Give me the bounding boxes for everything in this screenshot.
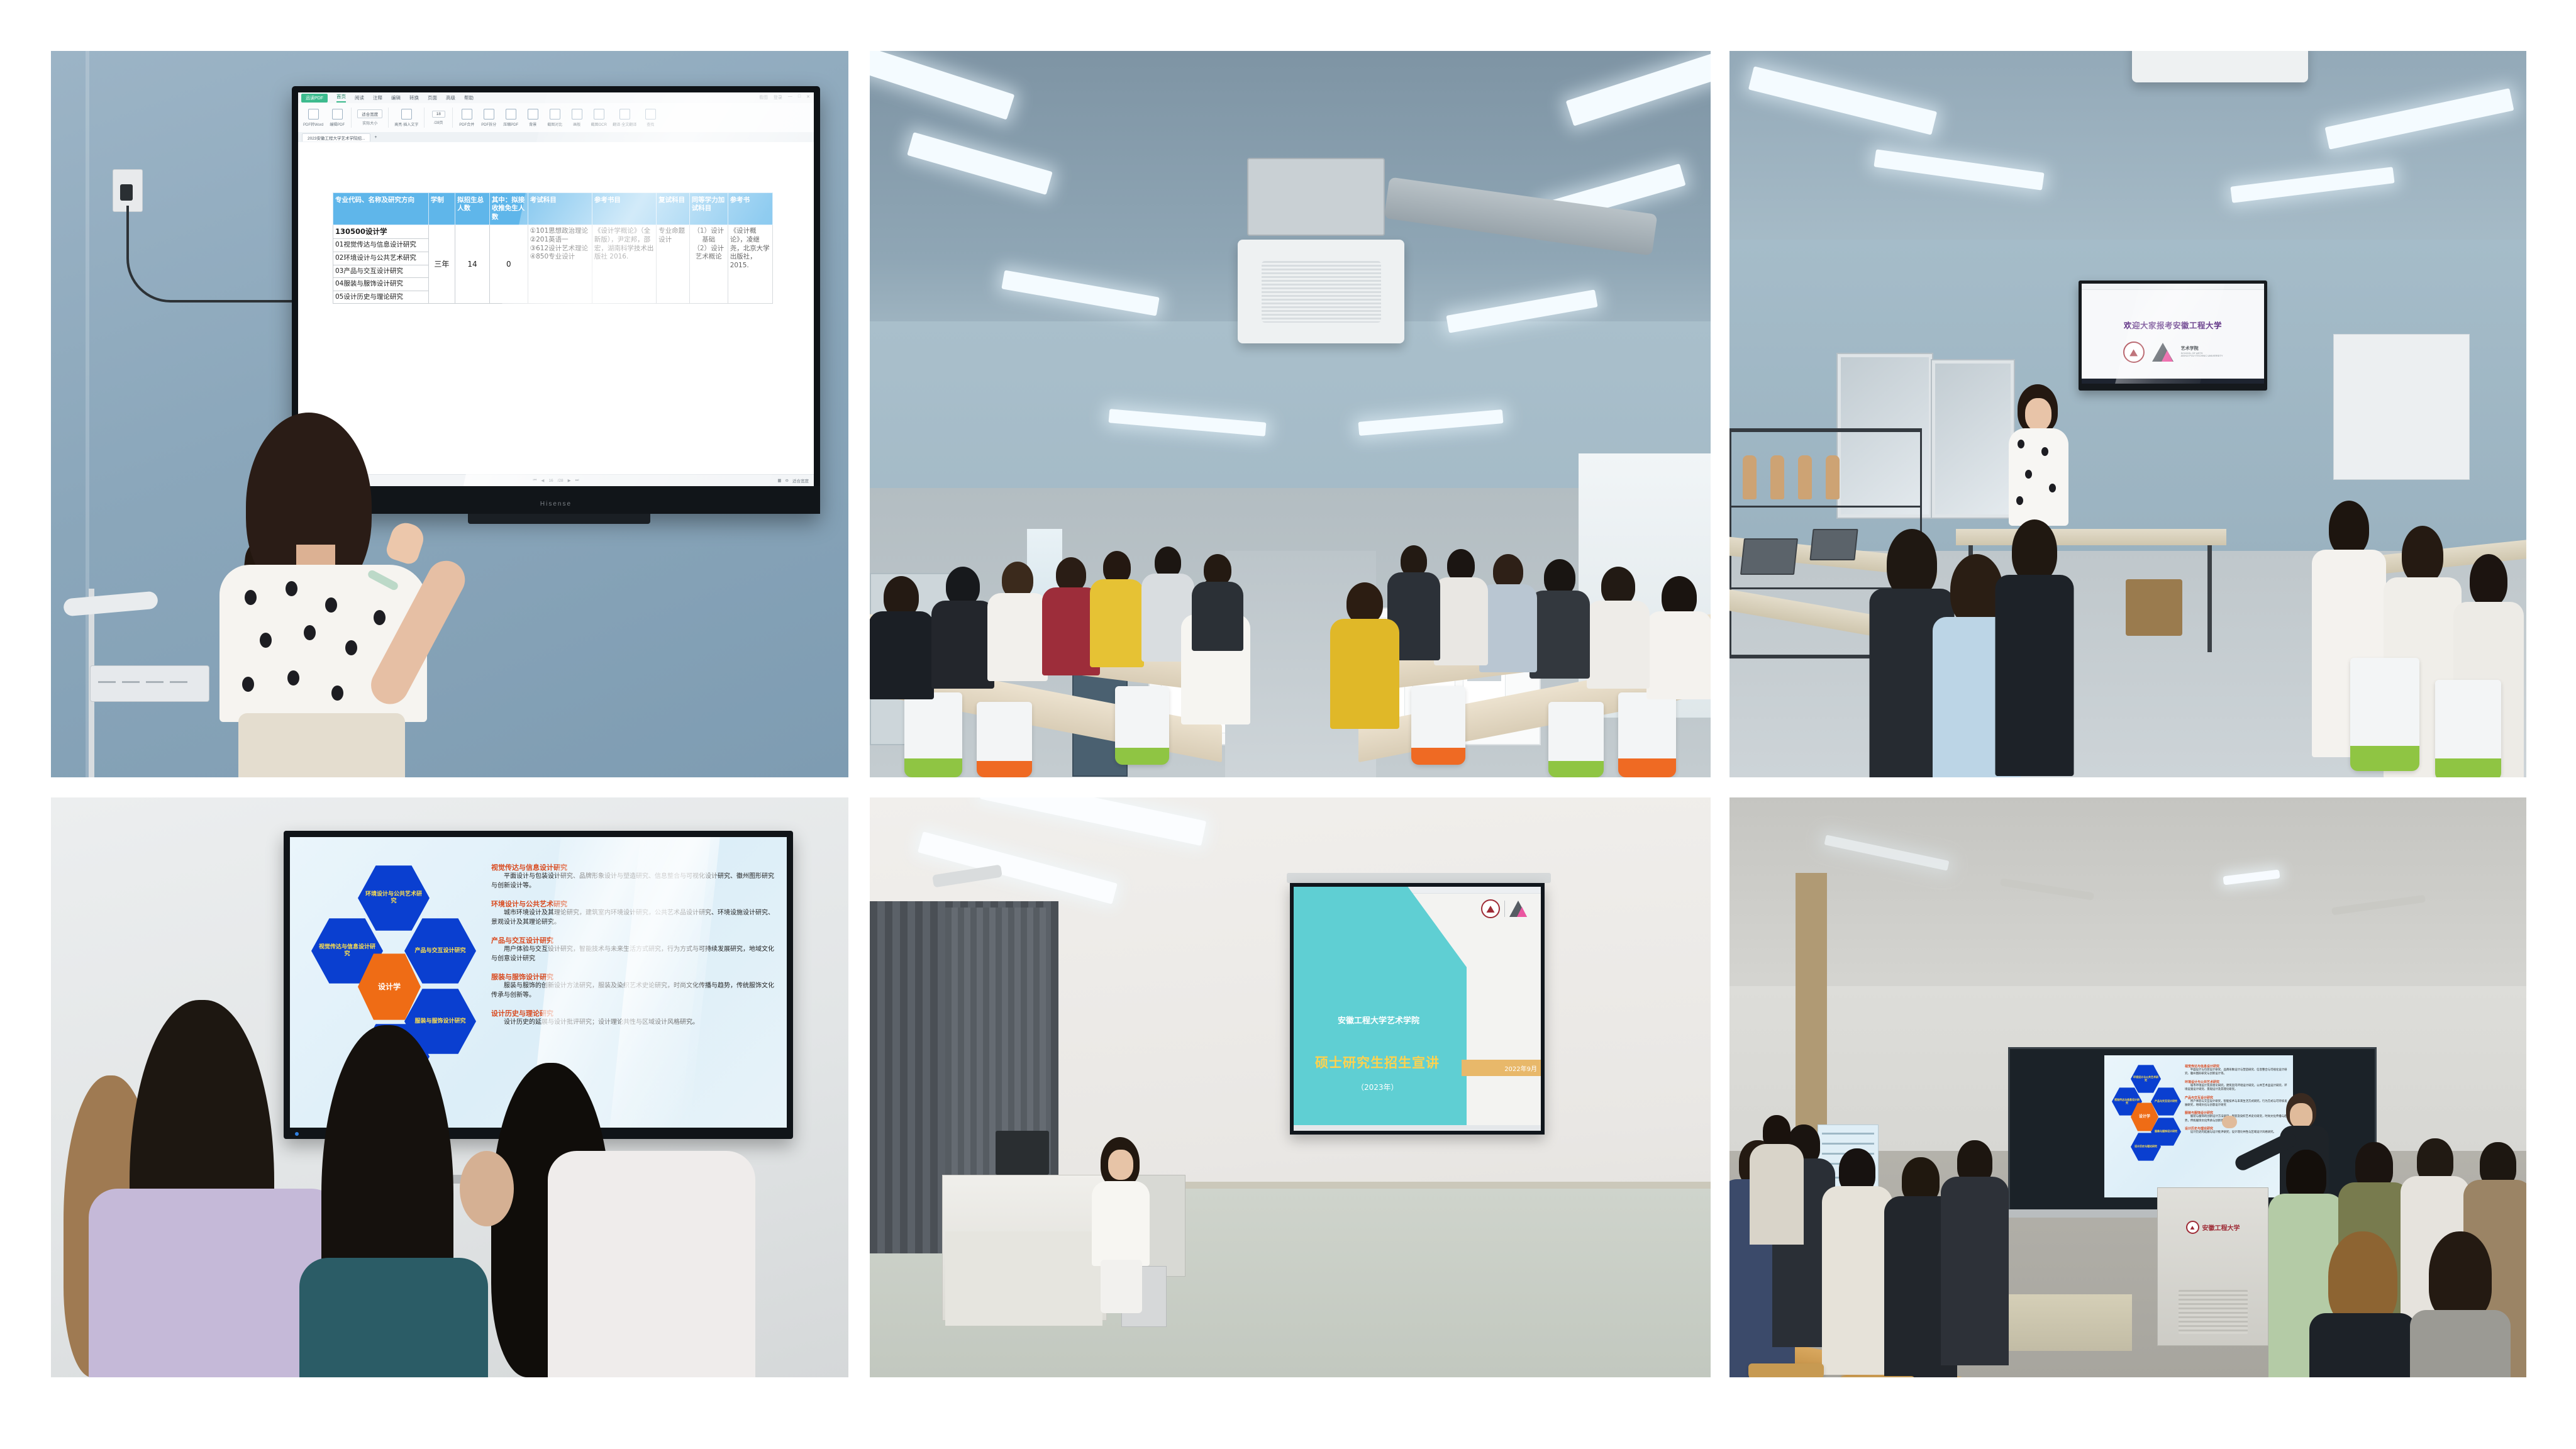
slide-year: （2023年）	[1357, 1082, 1399, 1092]
th-exempt: 其中：拟接收推免生人数	[489, 193, 528, 225]
chair	[904, 692, 962, 777]
chair	[977, 702, 1032, 777]
welcome-slide-title: 欢迎大家报考安徽工程大学	[2082, 319, 2264, 331]
podium-logo: 安徽工程大学	[2186, 1221, 2240, 1234]
laptop	[1809, 529, 1858, 560]
cell-direction: 01视觉传达与信息设计研究	[333, 239, 429, 252]
search-icon	[645, 109, 656, 119]
desktop-monitor	[996, 1131, 1049, 1175]
ribbon-divider	[424, 108, 425, 128]
section-body: 用户体验与交互设计研究，智能技术与未来生活方式研究，行为方式与可持续发展研究，地…	[491, 945, 777, 963]
section-heading: 视觉传达与信息设计研究	[491, 862, 777, 872]
ribbon-label: 背景	[529, 121, 536, 127]
th-duration: 学制	[428, 193, 455, 225]
student-head	[460, 1151, 514, 1226]
section-body: 平面设计与包装设计研究、品牌形象设计与塑造研究、信息整合与可视化设计研究、徽州图…	[2185, 1069, 2289, 1077]
ribbon-canvas[interactable]: 画板	[569, 109, 585, 127]
student-center-right	[1333, 582, 1396, 727]
white-blouse	[1092, 1181, 1150, 1266]
logo-divider	[1504, 901, 1505, 917]
ribbon-label: 压缩PDF	[503, 121, 518, 127]
section-body: 服装与服饰的创新设计方法研究，服装及染织艺术史论研究，时尚文化传播与趋势，传统服…	[491, 982, 777, 1000]
chair	[1411, 686, 1465, 765]
section-body: 城市环境设计及其理论研究，建筑室内环境设计研究，公共艺术品设计研究、环境设施设计…	[2185, 1084, 2289, 1092]
pdf-menu-advanced[interactable]: 高级	[446, 94, 455, 101]
section-heading: 环境设计与公共艺术研究	[491, 899, 777, 909]
prev-page-icon[interactable]: ◀	[541, 478, 544, 483]
chair	[1748, 1363, 1824, 1377]
compare-icon	[550, 109, 560, 119]
total-pages: /28	[558, 479, 563, 483]
art-school-logo-icon	[2152, 343, 2173, 362]
ribbon-label: 截图对比	[547, 121, 562, 127]
section-body: 城市环境设计及其理论研究，建筑室内环境设计研究，公共艺术品设计研究、环境设施设计…	[491, 909, 777, 927]
ribbon-edit-pdf[interactable]: 编辑PDF	[329, 109, 345, 127]
student	[1824, 1148, 1890, 1375]
status-zoom-label[interactable]: 适合宽度	[792, 477, 809, 484]
section-heading: 视觉传达与信息设计研究	[2185, 1064, 2289, 1069]
th-equivalent-ref: 参考书	[728, 193, 772, 225]
trousers	[1101, 1260, 1142, 1313]
table-header-row: 专业代码、名称及研究方向 学制 拟招生总人数 其中：拟接收推免生人数 考试科目 …	[333, 193, 773, 225]
maximize-icon[interactable]: □	[798, 94, 801, 101]
wooden-stool	[2126, 579, 2182, 636]
pdf-menu-home[interactable]: 首页	[336, 93, 346, 103]
student	[870, 576, 936, 696]
cassette-air-conditioner	[2132, 51, 2308, 82]
section-body: 平面设计与包装设计研究、品牌形象设计与塑造研究、信息整合与可视化设计研究、徽州图…	[491, 872, 777, 891]
ribbon-pdf-to-word[interactable]: PDF转Word	[303, 109, 323, 127]
teaching-platform	[1994, 1294, 2132, 1351]
slide-logos	[1481, 899, 1527, 918]
research-section: 环境设计与公共艺术研究 城市环境设计及其理论研究，建筑室内环境设计研究，公共艺术…	[491, 899, 777, 927]
pdf-menu-help[interactable]: 帮助	[464, 94, 474, 101]
ribbon-label: 高亮·插入文字	[394, 121, 418, 127]
ribbon-font-size[interactable]: 18/28页	[430, 111, 447, 125]
projected-image: 安徽工程大学艺术学院 硕士研究生招生宣讲 （2023年） 2022年9月	[1294, 887, 1541, 1131]
face	[1108, 1150, 1133, 1180]
face	[2025, 398, 2051, 431]
ribbon-label: PDF合并	[459, 121, 474, 127]
ocr-icon	[594, 109, 604, 119]
zoom-select[interactable]: 适合宽度	[357, 109, 382, 118]
document-tab[interactable]: 2023安徽工程大学艺术学院招...	[302, 133, 370, 142]
projector-screen-roller	[1287, 873, 1551, 883]
ribbon-pdf-compress[interactable]: 压缩PDF	[502, 109, 519, 127]
chair	[2350, 658, 2419, 771]
teacher-figure	[202, 387, 466, 777]
photo-collage: 迅读PDF 首页 阅读 注释 编辑 转换 页面 高级 帮助 看图 登录 —	[0, 0, 2576, 1449]
cell-direction: 04服装与服饰设计研究	[333, 278, 429, 291]
projector-screen[interactable]: 安徽工程大学艺术学院 硕士研究生招生宣讲 （2023年） 2022年9月	[1290, 883, 1545, 1135]
th-program: 专业代码、名称及研究方向	[333, 193, 429, 225]
research-section: 产品与交互设计研究 用户体验与交互设计研究，智能技术与未来生活方式研究，行为方式…	[491, 935, 777, 963]
photo-panel-1: 迅读PDF 首页 阅读 注释 编辑 转换 页面 高级 帮助 看图 登录 —	[51, 51, 848, 777]
close-icon[interactable]: ✕	[806, 94, 810, 101]
presenter-figure	[1087, 1137, 1156, 1313]
chair	[2435, 680, 2501, 777]
ribbon-label: 编辑PDF	[330, 121, 345, 127]
power-cable	[126, 206, 318, 303]
view-mode-icon[interactable]: ▦	[777, 478, 781, 483]
th-exam-subjects: 考试科目	[528, 193, 592, 225]
next-page-icon[interactable]: ▶	[568, 478, 571, 483]
merge-icon	[462, 109, 472, 119]
face	[2290, 1103, 2312, 1128]
student	[1585, 567, 1651, 686]
wall-control-panel	[90, 665, 209, 702]
art-school-logo-icon	[1509, 901, 1527, 917]
student	[1528, 559, 1591, 679]
ribbon-label: 截图OCR	[591, 121, 607, 127]
first-page-icon[interactable]: ⏮	[533, 478, 537, 483]
chair	[1115, 686, 1169, 765]
cell-exam-subjects: ①101思想政治理论 ②201英语一 ③612设计艺术理论 ④850专业设计	[528, 225, 592, 304]
research-section: 视觉传达与信息设计研究 平面设计与包装设计研究、品牌形象设计与塑造研究、信息整合…	[2185, 1064, 2289, 1077]
ribbon-label: 实际大小	[362, 120, 377, 126]
ribbon-find[interactable]: 查找	[642, 109, 658, 127]
pointing-hand	[384, 519, 428, 566]
photo-panel-2	[870, 51, 1711, 777]
slide-date: 2022年9月	[1504, 1063, 1537, 1073]
font-size-input[interactable]: 18	[432, 111, 445, 118]
new-tab-icon[interactable]: +	[374, 135, 377, 140]
split-icon	[484, 109, 494, 119]
ribbon-divider	[452, 108, 453, 128]
ribbon-pdf-merge[interactable]: PDF合并	[458, 109, 475, 127]
trousers	[238, 713, 405, 777]
power-indicator-icon	[295, 1132, 299, 1136]
teal-shape	[1294, 887, 1467, 1131]
th-retest: 复试科目	[657, 193, 690, 225]
title-slide: 安徽工程大学艺术学院 硕士研究生招生宣讲 （2023年） 2022年9月	[1294, 887, 1541, 1131]
ribbon-label: 画板	[573, 121, 580, 127]
current-page-number[interactable]: 16	[548, 479, 553, 483]
viewer-button[interactable]: 看图	[759, 94, 768, 101]
polka-dot-shirt	[2009, 428, 2068, 526]
app-toolbar	[2082, 284, 2264, 290]
college-name-block: 艺术学院 SCHOOL OF ARTS ANHUI POLYTECHNIC UN…	[2181, 347, 2223, 358]
last-page-icon[interactable]: ⏭	[575, 478, 579, 483]
minimize-icon[interactable]: —	[788, 94, 792, 101]
cell-duration: 三年	[428, 225, 455, 304]
compress-icon	[506, 109, 516, 119]
window-controls[interactable]: 看图 登录 — □ ✕	[759, 94, 810, 101]
cell-equivalent-ref: 《设计概论》，凌继尧，北京大学出版社，2015.	[728, 225, 772, 304]
research-section: 设计历史与理论研究 设计历史的延展与设计批评研究；设计理论共性与区域设计风格研究…	[491, 1008, 777, 1028]
research-section: 环境设计与公共艺术研究 城市环境设计及其理论研究，建筑室内环境设计研究，公共艺术…	[2185, 1080, 2289, 1092]
pdf-menu-read[interactable]: 阅读	[355, 94, 364, 101]
insert-text-icon	[401, 109, 412, 119]
ac-grille	[1262, 261, 1381, 323]
ribbon-background[interactable]: 背景	[525, 109, 541, 127]
work-table	[1956, 529, 2226, 545]
slide-date-bar: 2022年9月	[1462, 1060, 1541, 1076]
pdf-brand-label: 迅读PDF	[301, 94, 328, 103]
chair	[1840, 1376, 1915, 1377]
student-foreground	[2416, 1231, 2504, 1377]
pointing-hand	[2222, 1116, 2237, 1128]
student	[1645, 576, 1711, 696]
th-reference-books: 参考书目	[592, 193, 656, 225]
student-foreground	[2316, 1231, 2410, 1377]
translate-icon	[619, 109, 630, 119]
cell-direction: 02环境设计与公共艺术研究	[333, 252, 429, 265]
taskbar	[1294, 1125, 1541, 1131]
student-shoulders	[299, 1258, 488, 1377]
cell-program-code: 130500设计学	[333, 225, 429, 239]
student	[2000, 519, 2069, 771]
canvas-icon	[572, 109, 582, 119]
slide-college-name: 安徽工程大学艺术学院	[1338, 1014, 1419, 1026]
studio-ceiling	[1729, 51, 2526, 258]
student	[1943, 1140, 2006, 1367]
th-planned-total: 拟招生总人数	[455, 193, 490, 225]
cell-direction: 03产品与交互设计研究	[333, 265, 429, 278]
ribbon-label: PDF转Word	[303, 121, 323, 127]
pdf-menu-annotate[interactable]: 注释	[373, 94, 382, 101]
podium-vent	[2179, 1290, 2248, 1334]
research-section: 视觉传达与信息设计研究 平面设计与包装设计研究、品牌形象设计与塑造研究、信息整合…	[491, 862, 777, 891]
th-equivalent: 同等学力加试科目	[689, 193, 728, 225]
pdf-menubar: 迅读PDF 首页 阅读 注释 编辑 转换 页面 高级 帮助 看图 登录 —	[298, 92, 814, 104]
pdf-tabbar: 2023安徽工程大学艺术学院招... +	[298, 132, 814, 143]
cassette-air-conditioner	[1238, 240, 1404, 343]
display-screen: 欢迎大家报考安徽工程大学 艺术学院 SCHOOL OF ARTS ANHUI P…	[2082, 284, 2264, 384]
student-shoulders	[548, 1151, 755, 1377]
photo-panel-3: 欢迎大家报考安徽工程大学 艺术学院 SCHOOL OF ARTS ANHUI P…	[1729, 51, 2526, 777]
ceiling-equipment-box	[1247, 158, 1385, 236]
pdf-menu-edit[interactable]: 编辑	[391, 94, 401, 101]
background-icon	[528, 109, 538, 119]
cell-planned-total: 14	[455, 225, 490, 304]
ribbon-compare[interactable]: 截图对比	[547, 109, 563, 127]
ribbon-insert-text[interactable]: 高亮·插入文字	[394, 109, 418, 127]
zoom-out-icon[interactable]: ⊖	[786, 478, 789, 483]
student	[1191, 554, 1245, 648]
photo-panel-4: 环境设计与公共艺术研究 视觉传达与信息设计研究 产品与交互设计研究 设计学 服装…	[51, 797, 848, 1377]
admissions-table: 专业代码、名称及研究方向 学制 拟招生总人数 其中：拟接收推免生人数 考试科目 …	[333, 192, 773, 304]
table-row: 130500设计学 三年 14 0 ①101思想政治理论 ②201英语一 ③61…	[333, 225, 773, 239]
student	[1752, 1115, 1802, 1241]
pdf-menu-page[interactable]: 页面	[428, 94, 437, 101]
student	[986, 562, 1049, 681]
section-heading: 服装与服饰设计研究	[491, 972, 777, 982]
table-leg	[2207, 545, 2212, 652]
podium-university-name: 安徽工程大学	[2202, 1223, 2240, 1232]
welcome-slide-logos: 艺术学院 SCHOOL OF ARTS ANHUI POLYTECHNIC UN…	[2082, 341, 2264, 363]
chair	[1548, 702, 1604, 777]
lecture-podium: 安徽工程大学	[2157, 1187, 2268, 1346]
edit-pdf-icon	[332, 109, 343, 119]
section-heading: 环境设计与公共艺术研究	[2185, 1080, 2289, 1084]
section-body: 设计历史的延展与设计批评研究；设计理论共性与区域设计风格研究。	[491, 1018, 777, 1028]
taskbar	[2082, 379, 2264, 384]
cell-direction: 05设计历史与理论研究	[333, 291, 429, 304]
wall-display[interactable]: 欢迎大家报考安徽工程大学 艺术学院 SCHOOL OF ARTS ANHUI P…	[2079, 280, 2267, 391]
pdf-menu-convert[interactable]: 转换	[409, 94, 419, 101]
laptop	[1740, 538, 1798, 575]
wall-panel	[2333, 334, 2470, 480]
university-seal-icon	[2186, 1221, 2199, 1234]
cell-reference-books: 《设计学概论》（全新版），尹定邦，邵宏，湖南科学技术出版社 2016.	[592, 225, 656, 304]
cell-equivalent: （1）设计基础 （2）设计艺术概论	[689, 225, 728, 304]
smartboard-mount	[468, 514, 650, 524]
slide-headline: 硕士研究生招生宣讲	[1315, 1053, 1440, 1072]
chair	[1618, 692, 1676, 777]
display-brand-logo: Hisense	[540, 501, 572, 508]
ribbon-divider	[351, 108, 352, 128]
ribbon-zoom[interactable]: 适合宽度 实际大小	[357, 109, 382, 126]
hexagon-diagram: 环境设计与公共艺术研究 视觉传达与信息设计研究 产品与交互设计研究 设计学 服装…	[2111, 1064, 2180, 1177]
ribbon-label: 查找	[647, 121, 654, 127]
ribbon-label: PDF拆分	[481, 121, 496, 127]
hex-environment-design: 环境设计与公共艺术研究	[358, 863, 430, 933]
photo-panel-5: 安徽工程大学艺术学院 硕士研究生招生宣讲 （2023年） 2022年9月	[870, 797, 1711, 1377]
ribbon-pdf-split[interactable]: PDF拆分	[480, 109, 497, 127]
login-button[interactable]: 登录	[774, 94, 782, 101]
research-sections: 视觉传达与信息设计研究 平面设计与包装设计研究、品牌形象设计与塑造研究、信息整合…	[491, 862, 777, 1028]
pdf-ribbon: PDF转Word 编辑PDF 适合宽度 实际大小 高亮·插入文字 18/28页 …	[298, 103, 814, 133]
research-section: 服装与服饰设计研究 服装与服饰的创新设计方法研究，服装及染织艺术史论研究，时尚文…	[491, 972, 777, 1000]
desk-front-panel	[945, 1231, 1102, 1326]
section-heading: 产品与交互设计研究	[491, 935, 777, 945]
university-seal-icon	[1481, 899, 1500, 918]
cell-retest: 专业命题设计	[657, 225, 690, 304]
ribbon-ocr[interactable]: 截图OCR	[591, 109, 607, 127]
ribbon-divider	[388, 108, 389, 128]
ribbon-label: 翻译·全文翻译	[613, 121, 636, 127]
college-name-en-2: ANHUI POLYTECHNIC UNIVERSITY	[2181, 355, 2223, 358]
wall-plug	[120, 184, 133, 201]
cell-exempt: 0	[489, 225, 528, 304]
university-seal-icon	[2123, 341, 2145, 363]
status-right-group: ▦ ⊖ 适合宽度	[777, 477, 809, 484]
screen-glare	[2111, 284, 2226, 384]
section-heading: 设计历史与理论研究	[491, 1008, 777, 1018]
student	[1089, 551, 1145, 670]
photo-panel-6: 环境设计与公共艺术研究 视觉传达与信息设计研究 产品与交互设计研究 设计学 服装…	[1729, 797, 2526, 1377]
page-indicator-label: /28页	[434, 119, 443, 125]
pdf-to-word-icon	[308, 109, 319, 119]
ribbon-translate[interactable]: 翻译·全文翻译	[613, 109, 636, 127]
